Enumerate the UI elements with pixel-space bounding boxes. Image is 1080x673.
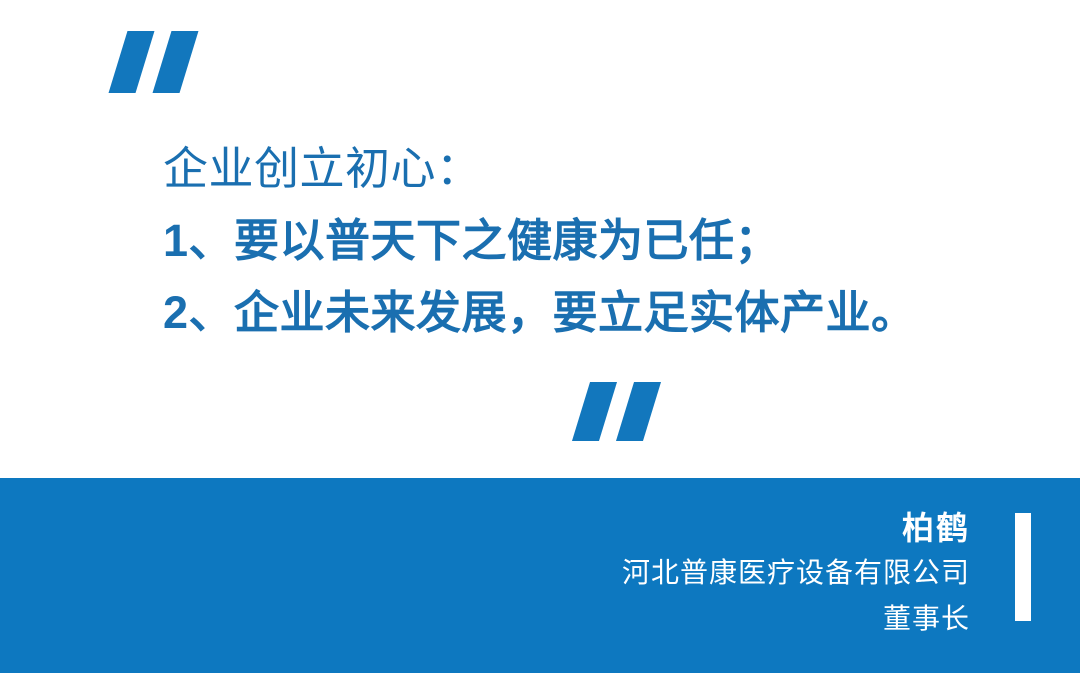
- attribution-role: 董事长: [622, 596, 970, 642]
- quote-line-item-1: 1、要以普天下之健康为已任；: [163, 205, 1023, 277]
- open-quote-mark: [112, 31, 202, 93]
- attribution-band: 柏鹤 河北普康医疗设备有限公司 董事长: [0, 478, 1080, 673]
- vertical-rule-icon: [1015, 513, 1031, 621]
- quote-bar-left: [572, 382, 617, 441]
- close-quote-mark: [575, 382, 663, 441]
- quote-line-item-2: 2、企业未来发展，要立足实体产业。: [163, 277, 1023, 349]
- attribution-company: 河北普康医疗设备有限公司: [622, 550, 970, 596]
- quote-text-block: 企业创立初心： 1、要以普天下之健康为已任； 2、企业未来发展，要立足实体产业。: [163, 133, 1023, 349]
- quote-bar-right: [153, 31, 199, 93]
- attribution-text-block: 柏鹤 河北普康医疗设备有限公司 董事长: [622, 506, 970, 642]
- attribution-name: 柏鹤: [622, 506, 970, 550]
- quote-bar-right: [616, 382, 661, 441]
- quote-card: 企业创立初心： 1、要以普天下之健康为已任； 2、企业未来发展，要立足实体产业。…: [0, 0, 1080, 673]
- quote-bar-left: [109, 31, 155, 93]
- quote-line-heading: 企业创立初心：: [163, 133, 1023, 205]
